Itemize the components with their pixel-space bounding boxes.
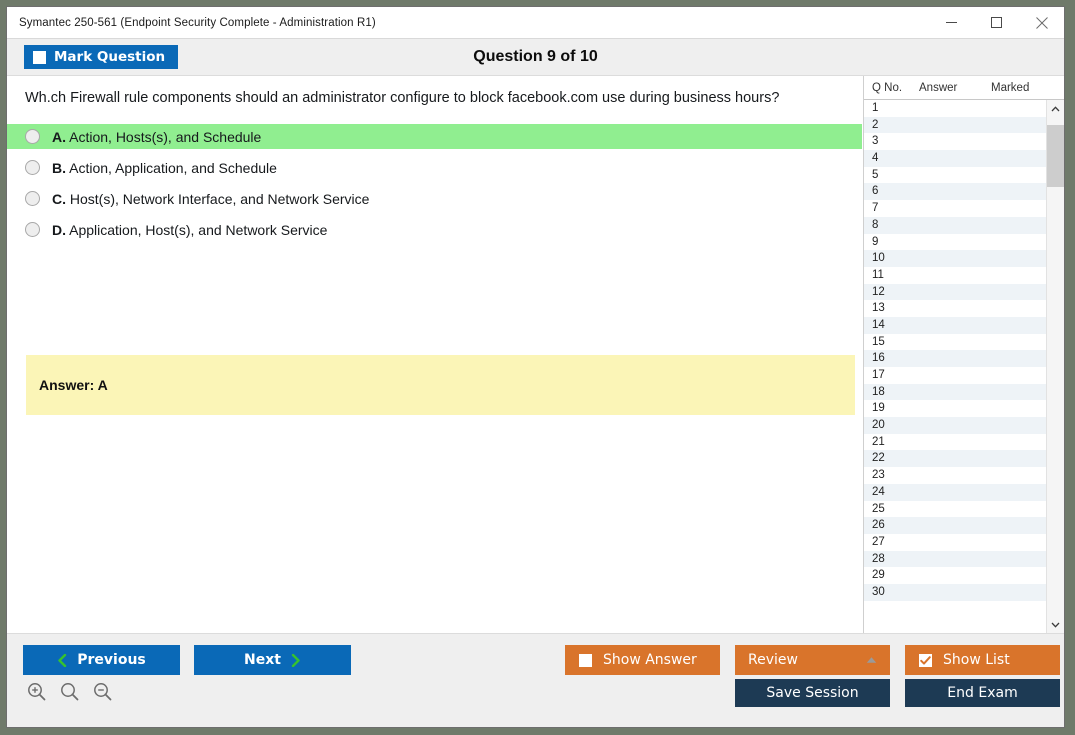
chevron-left-icon bbox=[57, 654, 67, 667]
chevron-up-icon bbox=[1051, 106, 1060, 112]
question-list-row[interactable]: 2 bbox=[864, 117, 1046, 134]
minimize-icon bbox=[946, 17, 957, 28]
option-label-c: C. Host(s), Network Interface, and Netwo… bbox=[52, 191, 369, 207]
question-list-row[interactable]: 9 bbox=[864, 234, 1046, 251]
question-list-row-number: 11 bbox=[872, 267, 919, 284]
question-list-row-number: 14 bbox=[872, 317, 919, 334]
question-list-row[interactable]: 29 bbox=[864, 567, 1046, 584]
question-list-row[interactable]: 11 bbox=[864, 267, 1046, 284]
main-content: Wh.ch Firewall rule components should an… bbox=[7, 76, 1064, 633]
question-list-row-number: 9 bbox=[872, 234, 919, 251]
minimize-button[interactable] bbox=[929, 7, 974, 38]
option-text-a: Action, Hosts(s), and Schedule bbox=[69, 129, 261, 145]
question-list-panel: Q No. Answer Marked 12345678910111213141… bbox=[863, 76, 1064, 633]
maximize-button[interactable] bbox=[974, 7, 1019, 38]
header-bar: Mark Question Question 9 of 10 bbox=[7, 39, 1064, 76]
question-text: Wh.ch Firewall rule components should an… bbox=[25, 89, 835, 108]
scrollbar-track[interactable] bbox=[1047, 117, 1064, 616]
question-list-row-number: 23 bbox=[872, 467, 919, 484]
question-list-row[interactable]: 6 bbox=[864, 183, 1046, 200]
show-list-button[interactable]: Show List bbox=[905, 645, 1060, 675]
question-list-row-number: 18 bbox=[872, 384, 919, 401]
question-list-row[interactable]: 5 bbox=[864, 167, 1046, 184]
question-list-row[interactable]: 10 bbox=[864, 250, 1046, 267]
option-text-b: Action, Application, and Schedule bbox=[69, 160, 277, 176]
footer-toolbar: Previous Next bbox=[7, 633, 1064, 727]
show-list-checkbox[interactable] bbox=[919, 654, 932, 667]
option-text-d: Application, Host(s), and Network Servic… bbox=[69, 222, 327, 238]
scroll-down-button[interactable] bbox=[1047, 616, 1064, 633]
question-list-scroll-area: 1234567891011121314151617181920212223242… bbox=[864, 100, 1064, 633]
question-list-row-number: 30 bbox=[872, 584, 919, 601]
next-label: Next bbox=[244, 652, 281, 668]
question-list-row-number: 4 bbox=[872, 150, 919, 167]
question-list-row[interactable]: 15 bbox=[864, 334, 1046, 351]
column-header-qno: Q No. bbox=[864, 82, 919, 94]
question-list-row-number: 24 bbox=[872, 484, 919, 501]
question-list-row-number: 29 bbox=[872, 567, 919, 584]
zoom-in-icon[interactable] bbox=[27, 682, 46, 701]
option-letter-d: D. bbox=[52, 222, 66, 238]
question-list-row-number: 26 bbox=[872, 517, 919, 534]
column-header-answer: Answer bbox=[919, 82, 991, 94]
question-list-row-number: 25 bbox=[872, 501, 919, 518]
question-list-row[interactable]: 26 bbox=[864, 517, 1046, 534]
show-list-label: Show List bbox=[943, 652, 1010, 668]
question-pane: Wh.ch Firewall rule components should an… bbox=[7, 76, 863, 633]
question-list-row[interactable]: 25 bbox=[864, 501, 1046, 518]
title-bar: Symantec 250-561 (Endpoint Security Comp… bbox=[7, 7, 1064, 39]
chevron-down-icon bbox=[1051, 622, 1060, 628]
radio-d[interactable] bbox=[25, 222, 40, 237]
option-row-d[interactable]: D. Application, Host(s), and Network Ser… bbox=[7, 217, 862, 242]
question-list-header: Q No. Answer Marked bbox=[864, 76, 1064, 100]
next-button[interactable]: Next bbox=[194, 645, 351, 675]
option-row-a[interactable]: A. Action, Hosts(s), and Schedule bbox=[7, 124, 862, 149]
question-list-row-number: 20 bbox=[872, 417, 919, 434]
question-list-row-number: 10 bbox=[872, 250, 919, 267]
option-letter-c: C. bbox=[52, 191, 66, 207]
scroll-up-button[interactable] bbox=[1047, 100, 1064, 117]
previous-button[interactable]: Previous bbox=[23, 645, 180, 675]
end-exam-label: End Exam bbox=[947, 685, 1017, 701]
option-label-a: A. Action, Hosts(s), and Schedule bbox=[52, 129, 261, 145]
question-list-row[interactable]: 1 bbox=[864, 100, 1046, 117]
window-controls bbox=[929, 7, 1064, 38]
question-list-row-number: 12 bbox=[872, 284, 919, 301]
question-list-row[interactable]: 14 bbox=[864, 317, 1046, 334]
question-list-row[interactable]: 8 bbox=[864, 217, 1046, 234]
answer-label: Answer: A bbox=[26, 377, 108, 393]
zoom-icon[interactable] bbox=[60, 682, 79, 701]
question-list-row-number: 6 bbox=[872, 183, 919, 200]
show-answer-button[interactable]: Show Answer bbox=[565, 645, 720, 675]
question-list-row[interactable]: 16 bbox=[864, 350, 1046, 367]
question-list-row[interactable]: 18 bbox=[864, 384, 1046, 401]
question-list-row[interactable]: 7 bbox=[864, 200, 1046, 217]
option-row-c[interactable]: C. Host(s), Network Interface, and Netwo… bbox=[7, 186, 862, 211]
answer-options: A. Action, Hosts(s), and Schedule B. Act… bbox=[7, 124, 862, 248]
question-list-row[interactable]: 27 bbox=[864, 534, 1046, 551]
question-list-row-number: 5 bbox=[872, 167, 919, 184]
question-list-row[interactable]: 30 bbox=[864, 584, 1046, 601]
option-letter-a: A. bbox=[52, 129, 66, 145]
question-list-row-number: 28 bbox=[872, 551, 919, 568]
question-list-row-number: 16 bbox=[872, 350, 919, 367]
question-list-row[interactable]: 3 bbox=[864, 133, 1046, 150]
close-button[interactable] bbox=[1019, 7, 1064, 38]
question-list-row[interactable]: 12 bbox=[864, 284, 1046, 301]
question-list-row-number: 15 bbox=[872, 334, 919, 351]
mark-question-checkbox[interactable] bbox=[33, 51, 46, 64]
question-list-row-number: 2 bbox=[872, 117, 919, 134]
question-list-row[interactable]: 23 bbox=[864, 467, 1046, 484]
radio-c[interactable] bbox=[25, 191, 40, 206]
mark-question-label: Mark Question bbox=[54, 49, 165, 65]
question-list-row-number: 19 bbox=[872, 400, 919, 417]
option-row-b[interactable]: B. Action, Application, and Schedule bbox=[7, 155, 862, 180]
zoom-out-icon[interactable] bbox=[93, 682, 112, 701]
scrollbar-thumb[interactable] bbox=[1047, 125, 1064, 187]
radio-b[interactable] bbox=[25, 160, 40, 175]
question-list-row[interactable]: 20 bbox=[864, 417, 1046, 434]
option-letter-b: B. bbox=[52, 160, 66, 176]
review-label: Review bbox=[748, 652, 798, 668]
question-list-row[interactable]: 21 bbox=[864, 434, 1046, 451]
question-list-row[interactable]: 4 bbox=[864, 150, 1046, 167]
question-list-row[interactable]: 13 bbox=[864, 300, 1046, 317]
close-icon bbox=[1036, 17, 1048, 29]
question-list-row[interactable]: 17 bbox=[864, 367, 1046, 384]
question-list-row-number: 1 bbox=[872, 100, 919, 117]
question-list-row-number: 22 bbox=[872, 450, 919, 467]
review-dropdown[interactable]: Review bbox=[735, 645, 890, 675]
zoom-controls bbox=[27, 682, 112, 701]
save-session-label: Save Session bbox=[766, 685, 858, 701]
maximize-icon bbox=[991, 17, 1002, 28]
question-list-row-number: 3 bbox=[872, 133, 919, 150]
chevron-up-icon bbox=[866, 657, 877, 664]
question-list-row-number: 8 bbox=[872, 217, 919, 234]
question-list-row[interactable]: 22 bbox=[864, 450, 1046, 467]
answer-panel: Answer: A bbox=[26, 355, 855, 415]
question-list-row-number: 27 bbox=[872, 534, 919, 551]
end-exam-button[interactable]: End Exam bbox=[905, 679, 1060, 707]
question-list-scrollbar[interactable] bbox=[1046, 100, 1064, 633]
question-list-row[interactable]: 24 bbox=[864, 484, 1046, 501]
question-list-row[interactable]: 19 bbox=[864, 400, 1046, 417]
window-title: Symantec 250-561 (Endpoint Security Comp… bbox=[7, 17, 376, 29]
option-label-d: D. Application, Host(s), and Network Ser… bbox=[52, 222, 327, 238]
option-label-b: B. Action, Application, and Schedule bbox=[52, 160, 277, 176]
exam-window: Symantec 250-561 (Endpoint Security Comp… bbox=[6, 6, 1065, 728]
show-answer-label: Show Answer bbox=[603, 652, 697, 668]
checkmark-icon bbox=[919, 654, 932, 667]
question-list-row-number: 17 bbox=[872, 367, 919, 384]
column-header-marked: Marked bbox=[991, 82, 1064, 94]
show-answer-checkbox[interactable] bbox=[579, 654, 592, 667]
save-session-button[interactable]: Save Session bbox=[735, 679, 890, 707]
question-list-row-number: 13 bbox=[872, 300, 919, 317]
question-list-row[interactable]: 28 bbox=[864, 551, 1046, 568]
question-list-row-number: 7 bbox=[872, 200, 919, 217]
radio-a[interactable] bbox=[25, 129, 40, 144]
question-list-rows: 1234567891011121314151617181920212223242… bbox=[864, 100, 1046, 633]
chevron-right-icon bbox=[291, 654, 301, 667]
option-text-c: Host(s), Network Interface, and Network … bbox=[70, 191, 370, 207]
mark-question-button[interactable]: Mark Question bbox=[24, 45, 178, 69]
previous-label: Previous bbox=[77, 652, 146, 668]
question-list-row-number: 21 bbox=[872, 434, 919, 451]
